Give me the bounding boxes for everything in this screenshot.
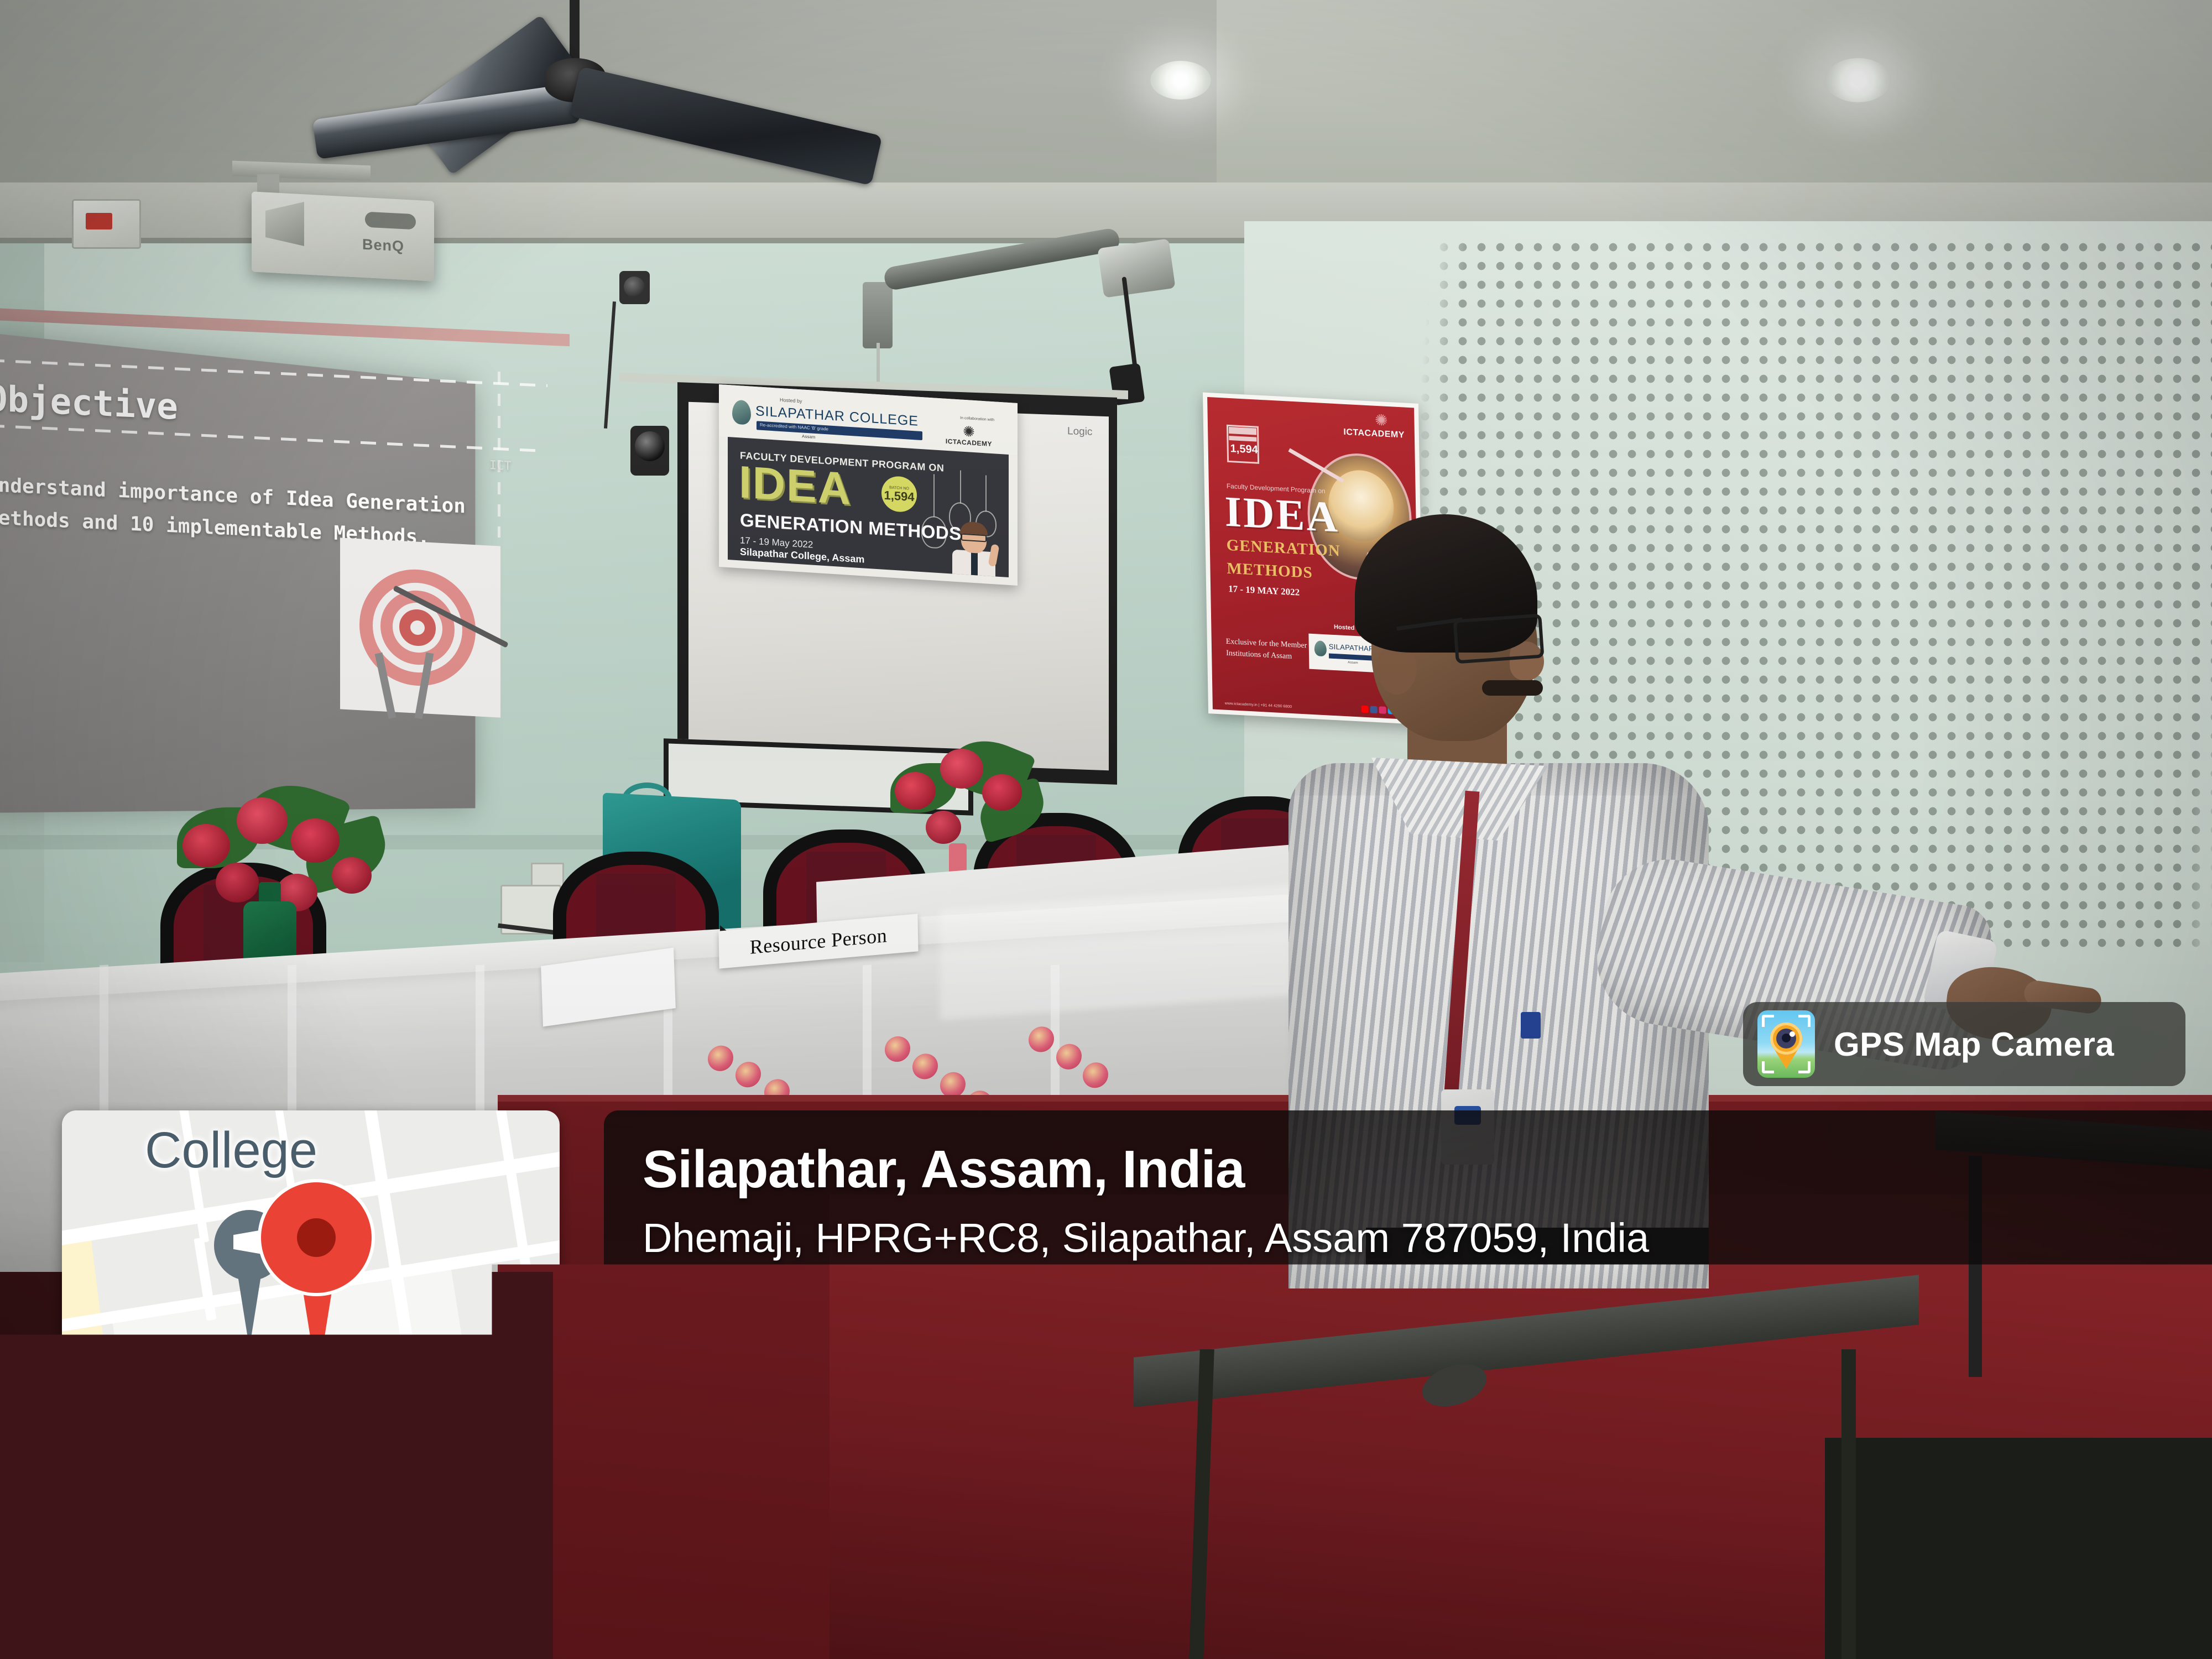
poster-footer-contact: www.ictacademy.in | +91 44 4290 6800 [1225, 702, 1292, 709]
google-logo-letter: o [194, 1542, 226, 1613]
map-road [493, 1110, 547, 1375]
google-logo: Google [114, 1542, 304, 1613]
google-logo-letter: l [259, 1542, 272, 1613]
poster-batch-bar [1229, 427, 1256, 435]
gps-map-camera-label: GPS Map Camera [1834, 1025, 2114, 1063]
location-latitude: Lat 27.591887° [643, 1265, 2191, 1319]
screen-brand-label: Logic [1067, 425, 1092, 439]
google-logo-letter: o [161, 1542, 194, 1613]
wall-speaker-cone [624, 276, 645, 298]
banner-title-idea: IDEA [739, 460, 852, 512]
gps-map-camera-watermark[interactable]: GPS Map Camera [1743, 1002, 2185, 1086]
eyeglasses-icon [1453, 614, 1544, 664]
illustration-tie [971, 552, 978, 577]
flower-bouquet-center [885, 735, 1051, 863]
capture-timestamp: 17/05/22 11:00 AM [643, 1373, 2191, 1427]
ceiling-light [1825, 58, 1891, 102]
map-pin-primary-hole [297, 1218, 336, 1257]
gps-map-camera-icon [1757, 1010, 1815, 1078]
banner-batch-number: 1,594 [884, 489, 914, 503]
wall-switch-indicator [86, 213, 112, 229]
geotag-info-panel: Silapathar, Assam, India Dhemaji, HPRG+R… [604, 1110, 2212, 1659]
projector-vent [365, 212, 416, 230]
gps-map-camera-photo: BenQ Objective ICT Understand importance… [0, 0, 2212, 1659]
banner-state: Assam [802, 434, 815, 440]
event-banner: Hosted by SILAPATHAR COLLEGE Re-accredit… [719, 384, 1018, 586]
illustration-hair [960, 521, 988, 535]
google-logo-letter: G [114, 1542, 161, 1613]
google-logo-letter: g [227, 1542, 259, 1613]
banner-speaker-illustration [949, 520, 1000, 577]
bulb-wire [985, 475, 987, 512]
speaker-arm-head [1097, 238, 1175, 298]
location-address: Dhemaji, HPRG+RC8, Silapathar, Assam 787… [643, 1211, 2191, 1265]
map-place-label: College [145, 1121, 317, 1180]
map-street-label: utor [62, 1547, 114, 1598]
bulb-wire [960, 470, 961, 503]
ictacademy-star-icon: ✺ [1375, 413, 1388, 429]
geotag-info-content: Silapathar, Assam, India Dhemaji, HPRG+R… [643, 1140, 2191, 1427]
poster-batch-number: 1,594 [1230, 442, 1258, 457]
bulb-wire [933, 474, 935, 517]
ceiling-drop-section [1217, 0, 2212, 199]
speaker-arm-plate [863, 282, 893, 348]
location-title: Silapathar, Assam, India [643, 1140, 2191, 1199]
presenter-moustache [1482, 680, 1543, 696]
ptz-camera-lens [635, 431, 665, 461]
slide-corner-label: ICT [489, 458, 512, 473]
illustration-pointing-finger [988, 544, 1000, 567]
location-longitude: Long 94.726608° [643, 1319, 2191, 1373]
banner-partner: ✺ ICTACADEMY [946, 423, 992, 448]
poster-partner-name: ICTACADEMY [1343, 427, 1405, 441]
google-logo-letter: e [272, 1542, 304, 1613]
banner-batch-badge: BATCH NO 1,594 [881, 476, 917, 513]
nameplate-text: Resource Person [749, 924, 887, 959]
banner-body: FACULTY DEVELOPMENT PROGRAM ON IDEA BATC… [728, 437, 1009, 577]
map-thumbnail[interactable]: College utor iture Google [62, 1110, 560, 1625]
ceiling-light [1150, 61, 1211, 100]
presenter-pocket-item [1521, 1012, 1541, 1039]
